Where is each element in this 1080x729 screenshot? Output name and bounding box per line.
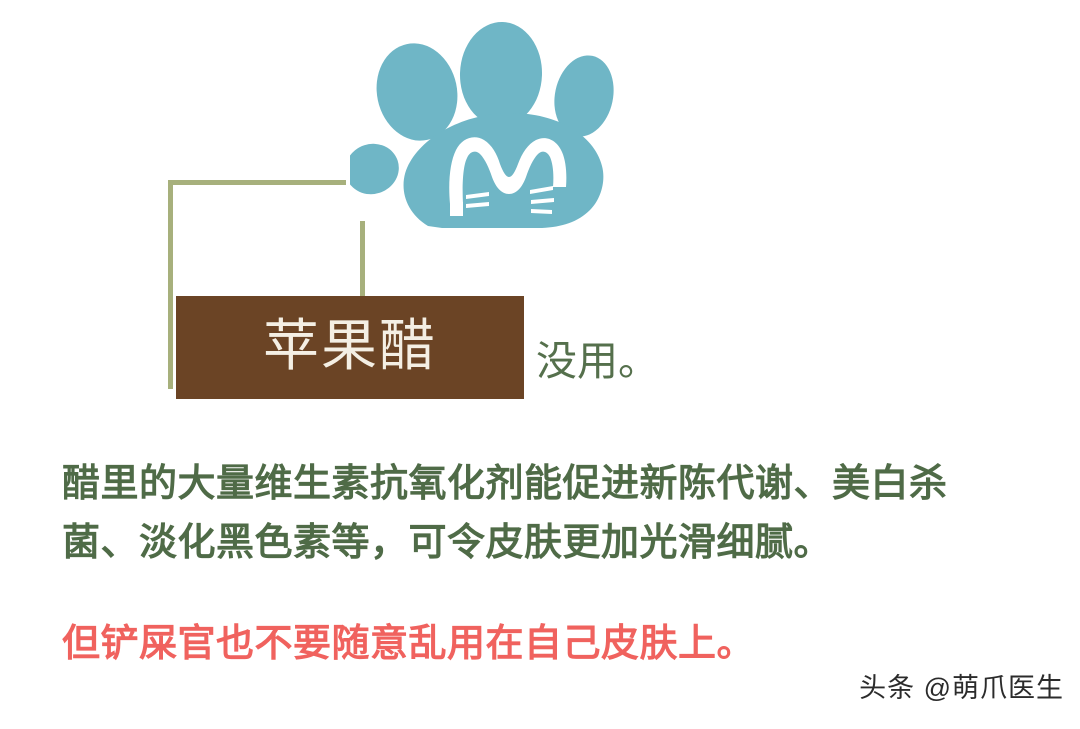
paw-toe-pad-center	[458, 21, 544, 128]
watermark-text: 头条 @萌爪医生	[859, 666, 1064, 705]
warning-text: 但铲屎官也不要随意乱用在自己皮肤上。	[62, 618, 755, 671]
poster-canvas: 苹果醋 没用。 醋里的大量维生素抗氧化剂能促进新陈代谢、美白杀 菌、淡化黑色素等…	[0, 0, 1080, 729]
frame-left-line	[168, 180, 173, 389]
frame-top-line	[168, 180, 346, 185]
paw-toe-pad-outer-left	[350, 137, 405, 201]
headline-label: 苹果醋	[176, 296, 524, 399]
verdict-text: 没用。	[536, 341, 659, 382]
headline-highlight-box: 苹果醋	[176, 296, 524, 399]
body-line-1: 醋里的大量维生素抗氧化剂能促进新陈代谢、美白杀	[62, 455, 1022, 514]
frame-vertical-tick	[360, 221, 365, 300]
body-line-2: 菌、淡化黑色素等，可令皮肤更加光滑细腻。	[62, 514, 1022, 573]
body-paragraph: 醋里的大量维生素抗氧化剂能促进新陈代谢、美白杀 菌、淡化黑色素等，可令皮肤更加光…	[62, 455, 1022, 573]
paw-print-with-cat-logo	[350, 14, 650, 229]
